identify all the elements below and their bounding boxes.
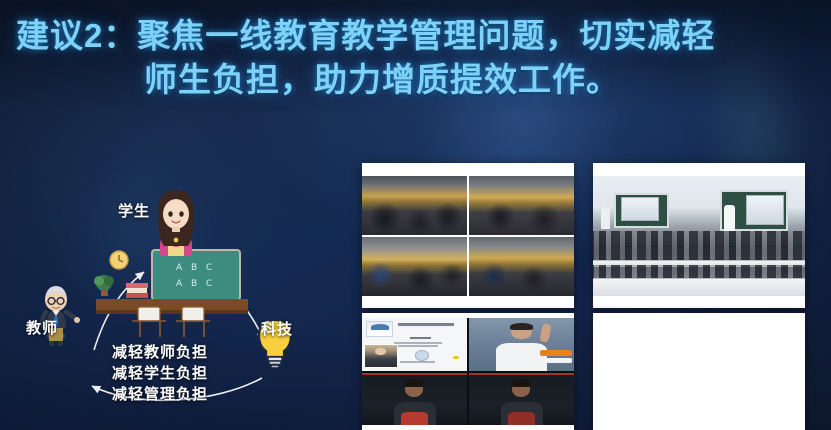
bullet-item: 减轻管理负担 [112,384,292,405]
headline-line-1: 建议2：聚焦一线教育教学管理问题，切实减轻 [16,14,828,58]
node-label-student: 学生 [118,200,150,221]
node-label-teacher: 教师 [26,317,58,338]
participant-shirt [401,412,428,426]
foreground-table [593,278,805,296]
projection-screen-right [746,195,784,225]
photo-panel-top-left [362,163,574,308]
tile-divider [469,373,574,375]
participant-hair [511,379,531,387]
slide-text-line [398,345,438,347]
slide-presenter-name [410,337,431,340]
headline-line-2: 师生负担，助力增质提效工作。 [16,58,828,102]
panel-top-margin [362,163,574,176]
video-tile-participant-right [469,373,574,426]
photo-grid [362,176,574,296]
slide-seal-graphic [415,350,430,360]
bullet-item: 减轻学生负担 [112,363,292,384]
classroom-illustration: A B C A B C [94,250,248,337]
video-grid [362,318,574,426]
tile-divider [362,373,467,375]
speaker-arm [540,323,553,343]
video-tile-participant-left [362,373,467,426]
svg-text:A B C: A B C [176,279,215,289]
bullet-item: 减轻教师负担 [112,342,292,363]
video-conference-panel [362,313,574,430]
projection-screen-left [621,197,659,222]
lecture-hall-photo [593,176,805,296]
panel-bottom-margin [593,296,805,308]
photo-cell [469,176,574,235]
slide-title-bar [398,323,455,326]
photo-cell [469,237,574,296]
slide-text-line [400,361,436,363]
participant-hair [404,379,424,387]
photo-cell [362,176,467,235]
slide-text-line [394,342,442,344]
student-avatar-icon [158,188,194,257]
slide-logo-icon [366,321,393,337]
presenter-thumbnail [364,344,398,368]
video-tile-slide [362,318,467,371]
photo-panel-bottom-right [593,313,805,430]
panel-top-margin [593,163,805,176]
triangle-infographic: A B C A B C [0,150,350,430]
photo-grid [593,317,805,427]
participant-shirt [508,412,535,426]
slide-highlight-dot [453,356,458,360]
svg-text:A B C: A B C [176,263,215,273]
standing-figure [601,207,609,229]
lecturer-figure [724,205,735,231]
bullet-list: 减轻教师负担 减轻学生负担 减轻管理负担 [112,342,292,405]
photo-panel-top-right [593,163,805,308]
video-name-badge-secondary [540,358,572,363]
speaker-torso [496,343,546,370]
video-name-badge [540,350,572,356]
slide-headline: 建议2：聚焦一线教育教学管理问题，切实减轻 师生负担，助力增质提效工作。 [16,14,828,102]
speaker-hair [510,323,533,330]
audience-row [593,231,805,247]
photo-cell [362,237,467,296]
node-label-technology: 科技 [261,318,293,339]
presentation-slide: 建议2：聚焦一线教育教学管理问题，切实减轻 师生负担，助力增质提效工作。 A B… [0,0,831,430]
video-tile-speaker [469,318,574,371]
panel-bottom-margin [362,296,574,308]
